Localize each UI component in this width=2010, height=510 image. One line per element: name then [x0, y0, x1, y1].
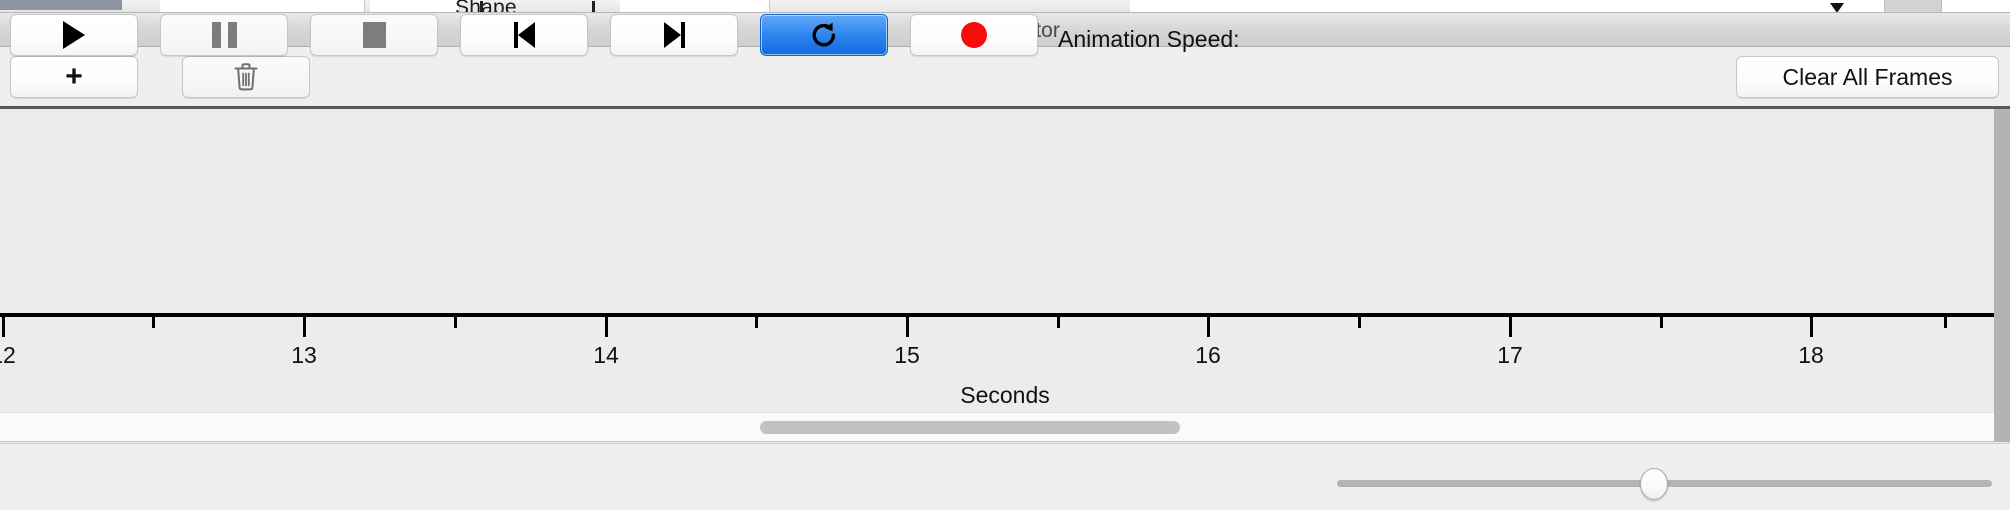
axis-tick-major [605, 315, 608, 337]
axis-tick-minor [1057, 315, 1060, 328]
timeline-scrollbar[interactable] [0, 412, 2010, 442]
cyanimator-window: Shape CyAnimator + Clear All Frames [0, 0, 2010, 510]
pause-icon [212, 22, 237, 48]
axis-tick-minor [1660, 315, 1663, 328]
timeline-axis: 12131415161718 Seconds [0, 304, 2010, 412]
axis-tick-label: 12 [0, 342, 16, 369]
pause-button[interactable] [160, 14, 288, 56]
axis-tick-major [303, 315, 306, 337]
background-toolbar-chip [0, 0, 122, 10]
playback-bar [0, 443, 2010, 510]
background-cell [620, 0, 770, 13]
record-button[interactable] [910, 14, 1038, 56]
clear-all-frames-label: Clear All Frames [1783, 64, 1953, 91]
timeline-panel[interactable]: MCM1 [0, 109, 2010, 304]
animation-speed-label: Animation Speed: [1058, 26, 1240, 53]
axis-tick-label: 18 [1798, 342, 1824, 369]
axis-tick-label: 16 [1195, 342, 1221, 369]
background-divider [592, 1, 595, 13]
delete-frame-button[interactable] [182, 56, 310, 98]
axis-tick-minor [755, 315, 758, 328]
axis-tick-label: 14 [593, 342, 619, 369]
loop-icon [809, 20, 839, 50]
stop-button[interactable] [310, 14, 438, 56]
background-sort-arrow-icon [1830, 3, 1844, 13]
axis-tick-major [1509, 315, 1512, 337]
add-frame-button[interactable]: + [10, 56, 138, 98]
axis-tick-minor [454, 315, 457, 328]
background-cell [1130, 0, 2010, 13]
background-cell [370, 0, 460, 13]
background-window[interactable]: Shape [0, 0, 2010, 13]
first-frame-button[interactable] [460, 14, 588, 56]
clear-all-frames-button[interactable]: Clear All Frames [1736, 56, 1999, 98]
background-window-label: Shape [455, 0, 517, 13]
record-icon [961, 22, 987, 48]
axis-tick-minor [1944, 315, 1947, 328]
play-icon [63, 21, 85, 49]
stop-icon [363, 22, 386, 48]
axis-tick-major [906, 315, 909, 337]
vertical-scroll-strip[interactable] [1994, 109, 2010, 442]
background-cell [160, 0, 365, 13]
skip-back-icon [514, 22, 535, 48]
play-button[interactable] [10, 14, 138, 56]
axis-tick-major [2, 315, 5, 337]
axis-tick-minor [152, 315, 155, 328]
axis-tick-minor [1358, 315, 1361, 328]
axis-tick-label: 17 [1497, 342, 1523, 369]
scrollbar-thumb[interactable] [760, 421, 1180, 434]
loop-button[interactable] [760, 14, 888, 56]
animation-speed-slider-thumb[interactable] [1640, 468, 1668, 500]
axis-line [0, 313, 1994, 317]
axis-title: Seconds [0, 382, 2010, 409]
plus-icon: + [65, 62, 83, 92]
axis-tick-major [1810, 315, 1813, 337]
skip-forward-icon [664, 22, 685, 48]
last-frame-button[interactable] [610, 14, 738, 56]
background-scrollbar[interactable] [1884, 0, 1942, 12]
axis-tick-label: 13 [291, 342, 317, 369]
axis-tick-label: 15 [894, 342, 920, 369]
axis-tick-major [1207, 315, 1210, 337]
trash-icon [233, 62, 259, 92]
